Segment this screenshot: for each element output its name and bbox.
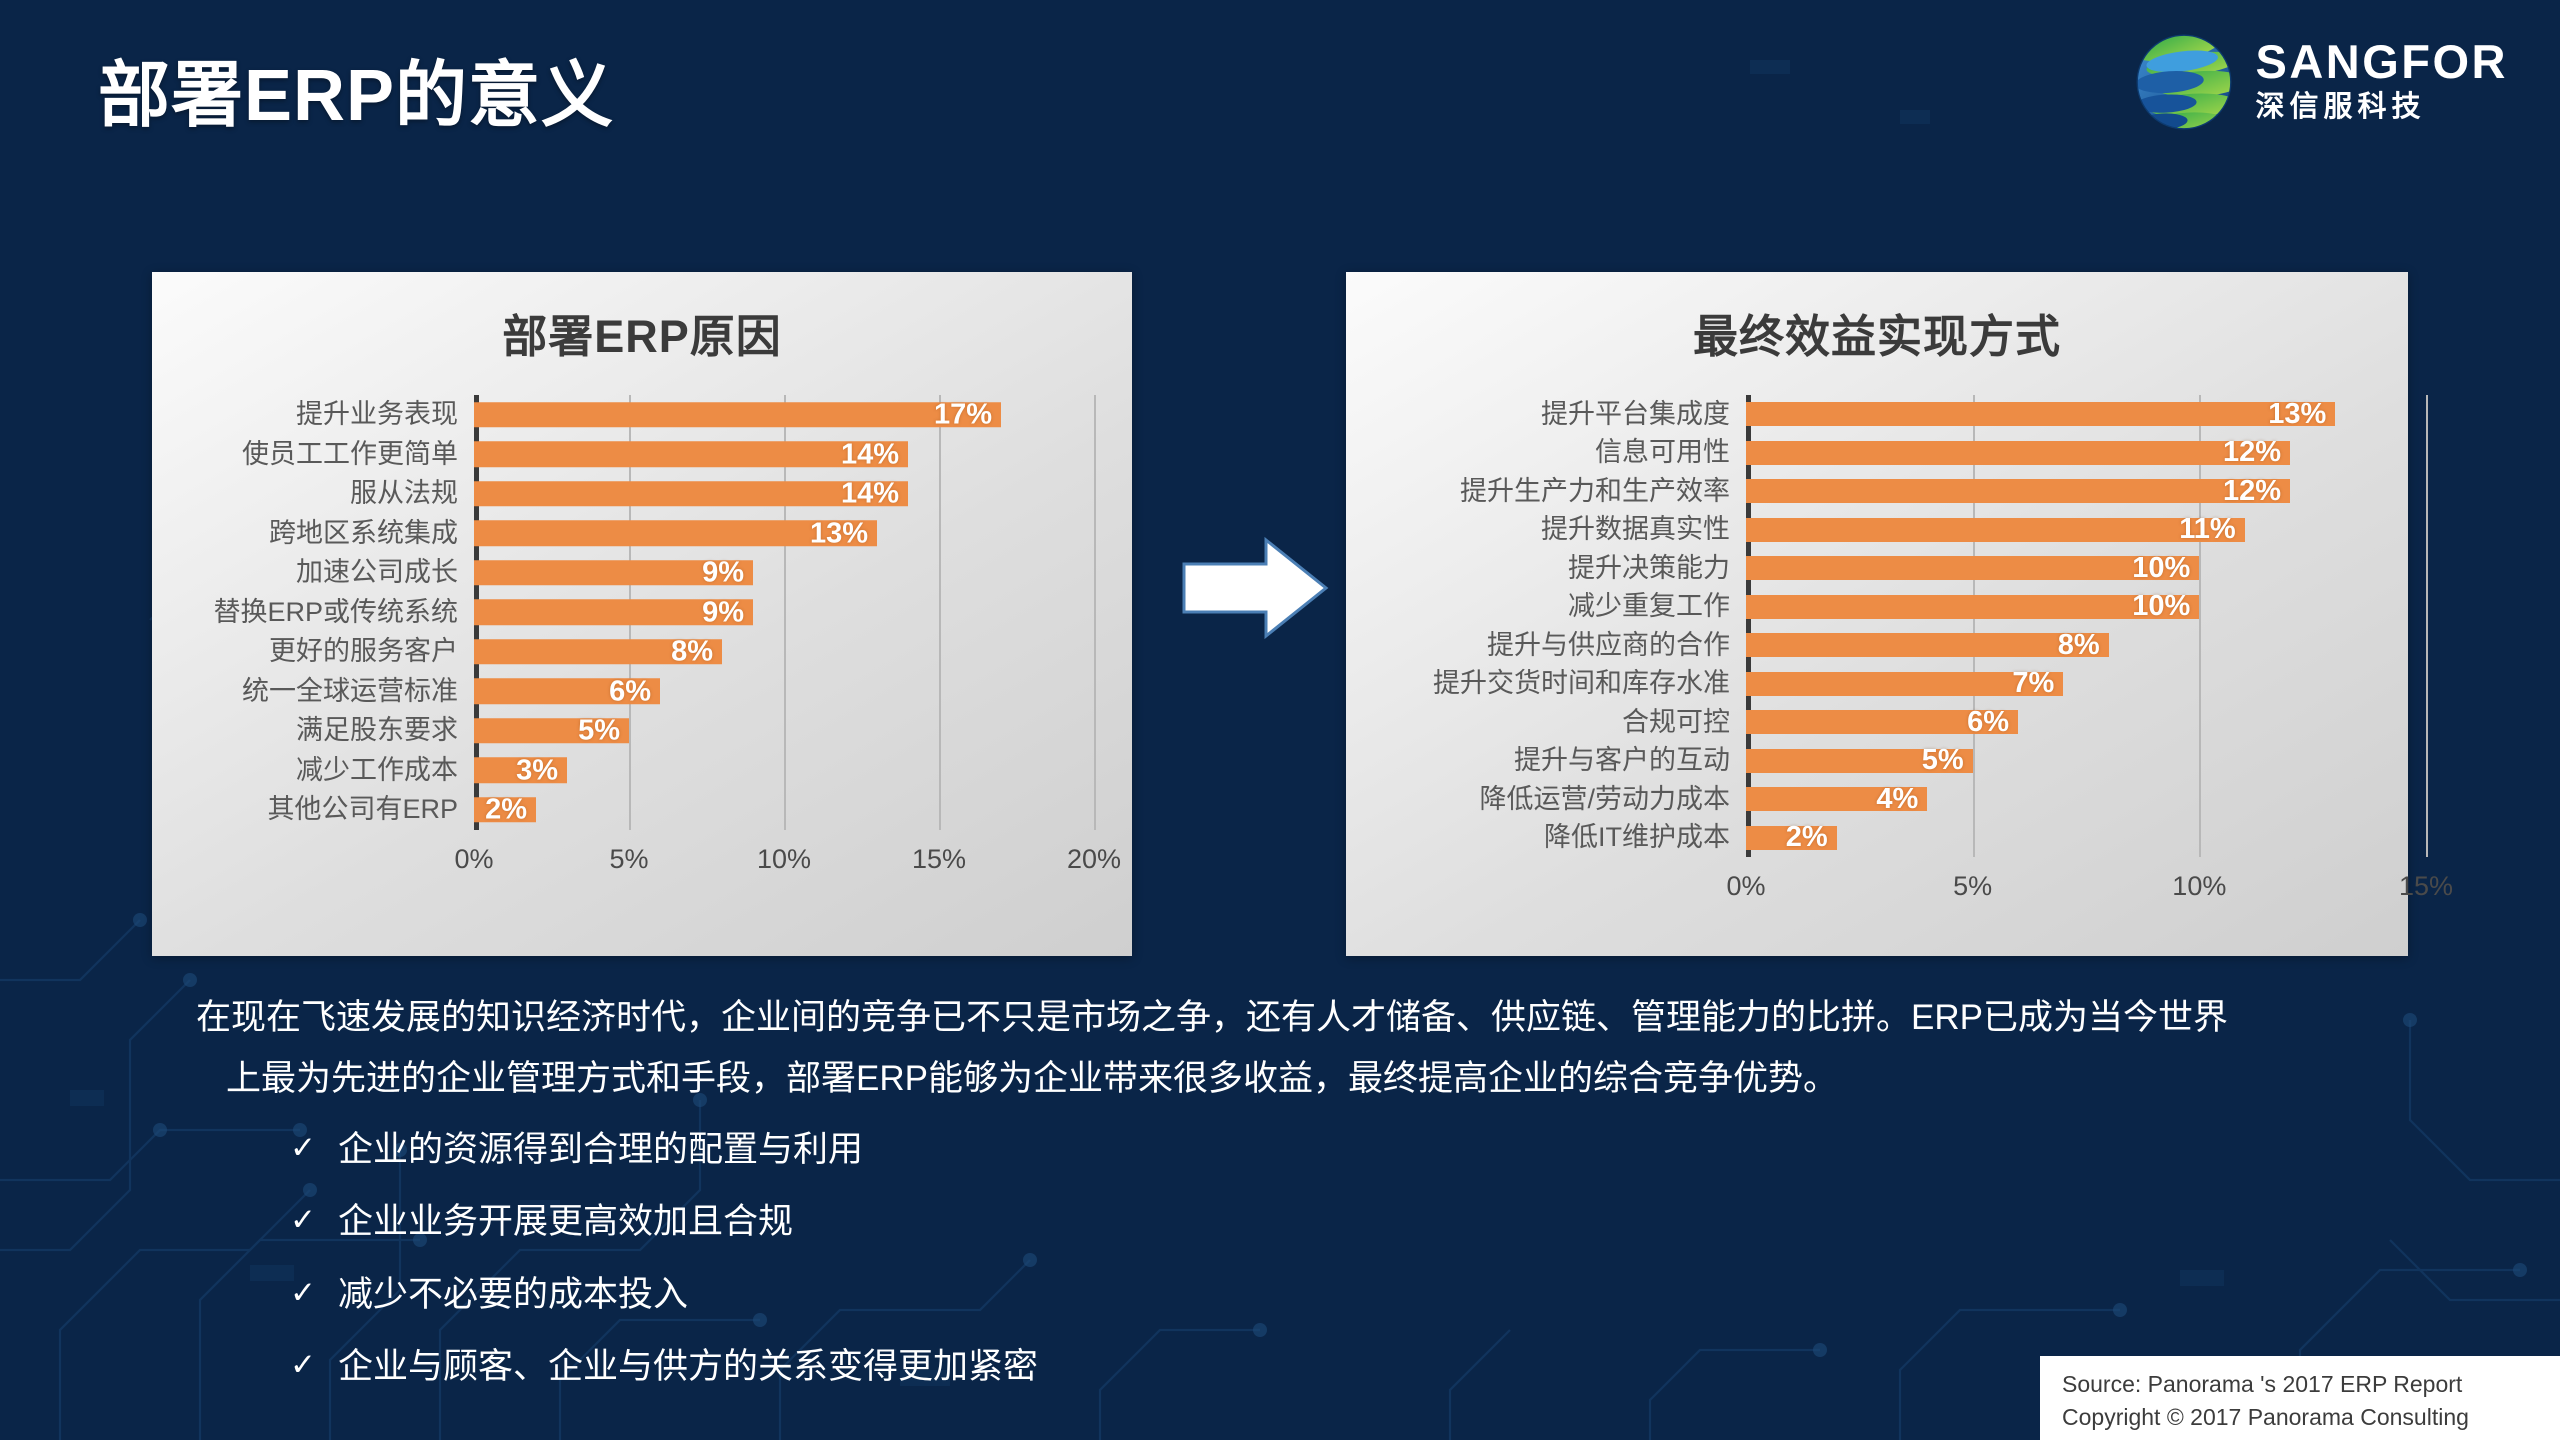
list-item-label: 企业与顾客、企业与供方的关系变得更加紧密 (338, 1347, 1038, 1387)
list-item: ✓减少不必要的成本投入 (290, 1275, 1990, 1315)
bar-value-label: 2% (1786, 821, 1837, 854)
x-axis-ticks: 0%5%10%15% (1346, 871, 2408, 921)
bar-value-label: 7% (2012, 667, 2063, 700)
chart-bar-row: 提升与客户的互动5% (1368, 742, 2408, 781)
chart-bar: 17% (474, 402, 1001, 428)
category-label: 加速公司成长 (174, 559, 474, 586)
chart-bar: 9% (474, 600, 753, 626)
category-label: 跨地区系统集成 (174, 520, 474, 547)
category-label: 满足股东要求 (174, 717, 474, 744)
chart-title: 最终效益实现方式 (1346, 272, 2408, 365)
bar-track: 2% (474, 797, 1094, 823)
chart-bar-row: 降低IT维护成本2% (1368, 819, 2408, 858)
category-label: 减少重复工作 (1368, 593, 1746, 620)
chart-bar: 10% (1746, 595, 2199, 619)
bar-track: 17% (474, 402, 1094, 428)
chart-bar: 14% (474, 481, 908, 507)
category-label: 服从法规 (174, 480, 474, 507)
chart-bar-row: 替换ERP或传统系统9% (174, 593, 1132, 633)
bar-track: 12% (1746, 441, 2426, 465)
right-arrow-icon (1180, 534, 1330, 642)
bar-track: 14% (474, 442, 1094, 468)
chart-bar-row: 使员工工作更简单14% (174, 435, 1132, 475)
bar-track: 5% (474, 718, 1094, 744)
bar-value-label: 2% (485, 793, 536, 826)
sangfor-logo: SANGFOR 深信服科技 (2130, 28, 2509, 136)
list-item-label: 企业的资源得到合理的配置与利用 (338, 1130, 863, 1170)
body-line-1: 在现在飞速发展的知识经济时代，企业间的竞争已不只是市场之争，还有人才储备、供应链… (196, 990, 2376, 1047)
chart-bar: 6% (474, 679, 660, 705)
chart-bar-row: 加速公司成长9% (174, 553, 1132, 593)
chart-bar: 14% (474, 442, 908, 468)
chart-bar-row: 信息可用性12% (1368, 434, 2408, 473)
chart-bar-row: 满足股东要求5% (174, 711, 1132, 751)
bar-value-label: 11% (2179, 513, 2244, 546)
list-item: ✓企业业务开展更高效加且合规 (290, 1202, 1990, 1242)
chart-bar-row: 服从法规14% (174, 474, 1132, 514)
category-label: 提升与客户的互动 (1368, 747, 1746, 774)
bar-rows: 提升平台集成度13%信息可用性12%提升生产力和生产效率12%提升数据真实性11… (1346, 395, 2408, 857)
chart-bar: 13% (1746, 402, 2335, 426)
x-axis-tick-label: 5% (609, 844, 648, 875)
bar-track: 9% (474, 560, 1094, 586)
bar-track: 13% (474, 521, 1094, 547)
category-label: 更好的服务客户 (174, 638, 474, 665)
list-item-label: 企业业务开展更高效加且合规 (338, 1202, 793, 1242)
page-title: 部署ERP的意义 (98, 36, 614, 141)
bar-track: 2% (1746, 826, 2426, 850)
bar-track: 10% (1746, 595, 2426, 619)
slide-canvas: 部署ERP的意义 (0, 0, 2560, 1440)
chart-bar: 3% (474, 758, 567, 784)
source-line-2: Copyright © 2017 Panorama Consulting Sol… (2062, 1401, 2560, 1440)
bar-track: 6% (474, 679, 1094, 705)
bar-track: 9% (474, 600, 1094, 626)
category-label: 提升生产力和生产效率 (1368, 478, 1746, 505)
bar-track: 12% (1746, 479, 2426, 503)
category-label: 提升与供应商的合作 (1368, 632, 1746, 659)
x-axis-tick-label: 5% (1953, 871, 1992, 902)
bar-track: 8% (1746, 633, 2426, 657)
list-item: ✓企业的资源得到合理的配置与利用 (290, 1130, 1990, 1170)
category-label: 统一全球运营标准 (174, 678, 474, 705)
bar-value-label: 13% (810, 517, 877, 550)
check-icon: ✓ (290, 1202, 338, 1238)
chart-bar: 12% (1746, 479, 2290, 503)
x-axis-tick-label: 10% (2172, 871, 2226, 902)
bar-value-label: 12% (2223, 436, 2290, 469)
bar-track: 6% (1746, 710, 2426, 734)
list-item: ✓企业与顾客、企业与供方的关系变得更加紧密 (290, 1347, 1990, 1387)
category-label: 提升决策能力 (1368, 555, 1746, 582)
bar-value-label: 10% (2132, 552, 2199, 585)
bar-value-label: 6% (1967, 706, 2018, 739)
chart-bar-row: 更好的服务客户8% (174, 632, 1132, 672)
body-line-2: 上最为先进的企业管理方式和手段，部署ERP能够为企业带来很多收益，最终提高企业的… (196, 1051, 2376, 1108)
logo-wordmark: SANGFOR (2256, 38, 2509, 86)
bar-value-label: 13% (2268, 398, 2335, 431)
x-axis-tick-label: 20% (1067, 844, 1121, 875)
bar-track: 5% (1746, 749, 2426, 773)
logo-chinese-name: 深信服科技 (2256, 89, 2509, 125)
bar-track: 7% (1746, 672, 2426, 696)
source-line-1: Source: Panorama 's 2017 ERP Report (2062, 1368, 2560, 1401)
chart-bar-row: 减少重复工作10% (1368, 588, 2408, 627)
bar-track: 11% (1746, 518, 2426, 542)
category-label: 减少工作成本 (174, 757, 474, 784)
chart-bar: 13% (474, 521, 877, 547)
chart-plot-area: 提升平台集成度13%信息可用性12%提升生产力和生产效率12%提升数据真实性11… (1346, 395, 2408, 921)
bar-value-label: 9% (702, 556, 753, 589)
x-axis-tick-label: 0% (1726, 871, 1765, 902)
x-axis-tick-label: 10% (757, 844, 811, 875)
bar-track: 10% (1746, 556, 2426, 580)
list-item-label: 减少不必要的成本投入 (338, 1275, 688, 1315)
chart-bar-row: 合规可控6% (1368, 703, 2408, 742)
bar-value-label: 9% (702, 596, 753, 629)
check-icon: ✓ (290, 1130, 338, 1166)
bar-value-label: 5% (578, 714, 629, 747)
x-axis-tick-label: 15% (2399, 871, 2453, 902)
bar-value-label: 17% (934, 398, 1001, 431)
bar-value-label: 14% (841, 477, 908, 510)
chart-panel-reasons: 部署ERP原因 提升业务表现17%使员工工作更简单14%服从法规14%跨地区系统… (152, 272, 1132, 956)
x-axis-tick-label: 0% (454, 844, 493, 875)
chart-plot-area: 提升业务表现17%使员工工作更简单14%服从法规14%跨地区系统集成13%加速公… (152, 395, 1132, 894)
bar-value-label: 6% (609, 675, 660, 708)
chart-bar-row: 提升交货时间和库存水准7% (1368, 665, 2408, 704)
bar-track: 3% (474, 758, 1094, 784)
bar-value-label: 8% (2058, 629, 2109, 662)
chart-bar-row: 降低运营/劳动力成本4% (1368, 780, 2408, 819)
bar-value-label: 4% (1876, 783, 1927, 816)
category-label: 信息可用性 (1368, 439, 1746, 466)
bar-rows: 提升业务表现17%使员工工作更简单14%服从法规14%跨地区系统集成13%加速公… (152, 395, 1132, 830)
category-label: 替换ERP或传统系统 (174, 599, 474, 626)
chart-bar: 9% (474, 560, 753, 586)
bar-track: 13% (1746, 402, 2426, 426)
bar-track: 8% (474, 639, 1094, 665)
category-label: 降低运营/劳动力成本 (1368, 786, 1746, 813)
bar-value-label: 10% (2132, 590, 2199, 623)
chart-bar-row: 提升生产力和生产效率12% (1368, 472, 2408, 511)
category-label: 提升交货时间和库存水准 (1368, 670, 1746, 697)
chart-bar-row: 其他公司有ERP2% (174, 790, 1132, 830)
category-label: 提升平台集成度 (1368, 401, 1746, 428)
bar-value-label: 14% (841, 438, 908, 471)
chart-bar: 5% (1746, 749, 1973, 773)
chart-bar-row: 提升平台集成度13% (1368, 395, 2408, 434)
chart-bar: 12% (1746, 441, 2290, 465)
chart-title: 部署ERP原因 (152, 272, 1132, 365)
body-paragraph: 在现在飞速发展的知识经济时代，企业间的竞争已不只是市场之争，还有人才储备、供应链… (196, 990, 2376, 1111)
chart-bar: 8% (1746, 633, 2109, 657)
x-axis-ticks: 0%5%10%15%20% (152, 844, 1132, 894)
category-label: 提升数据真实性 (1368, 516, 1746, 543)
category-label: 使员工工作更简单 (174, 441, 474, 468)
chart-bar: 2% (474, 797, 536, 823)
gridline (2426, 395, 2428, 857)
bullet-list: ✓企业的资源得到合理的配置与利用✓企业业务开展更高效加且合规✓减少不必要的成本投… (290, 1130, 1990, 1419)
check-icon: ✓ (290, 1275, 338, 1311)
bar-value-label: 3% (516, 754, 567, 787)
bar-track: 4% (1746, 787, 2426, 811)
check-icon: ✓ (290, 1347, 338, 1383)
bar-value-label: 5% (1922, 744, 1973, 777)
chart-bar-row: 提升与供应商的合作8% (1368, 626, 2408, 665)
chart-bar-row: 提升决策能力10% (1368, 549, 2408, 588)
chart-bar-row: 提升数据真实性11% (1368, 511, 2408, 550)
x-axis-tick-label: 15% (912, 844, 966, 875)
category-label: 合规可控 (1368, 709, 1746, 736)
chart-bar: 4% (1746, 787, 1927, 811)
category-label: 提升业务表现 (174, 401, 474, 428)
chart-bar-row: 提升业务表现17% (174, 395, 1132, 435)
category-label: 降低IT维护成本 (1368, 824, 1746, 851)
chart-bar: 10% (1746, 556, 2199, 580)
source-citation: Source: Panorama 's 2017 ERP Report Copy… (2040, 1356, 2560, 1440)
chart-bar: 7% (1746, 672, 2063, 696)
chart-bar-row: 跨地区系统集成13% (174, 514, 1132, 554)
chart-bar: 5% (474, 718, 629, 744)
chart-bar: 6% (1746, 710, 2018, 734)
bar-value-label: 12% (2223, 475, 2290, 508)
category-label: 其他公司有ERP (174, 796, 474, 823)
chart-bar-row: 统一全球运营标准6% (174, 672, 1132, 712)
chart-bar: 11% (1746, 518, 2245, 542)
bar-track: 14% (474, 481, 1094, 507)
chart-panel-benefits: 最终效益实现方式 提升平台集成度13%信息可用性12%提升生产力和生产效率12%… (1346, 272, 2408, 956)
bar-value-label: 8% (671, 635, 722, 668)
chart-bar-row: 减少工作成本3% (174, 751, 1132, 791)
globe-icon (2130, 28, 2238, 136)
chart-bar: 8% (474, 639, 722, 665)
chart-bar: 2% (1746, 826, 1837, 850)
